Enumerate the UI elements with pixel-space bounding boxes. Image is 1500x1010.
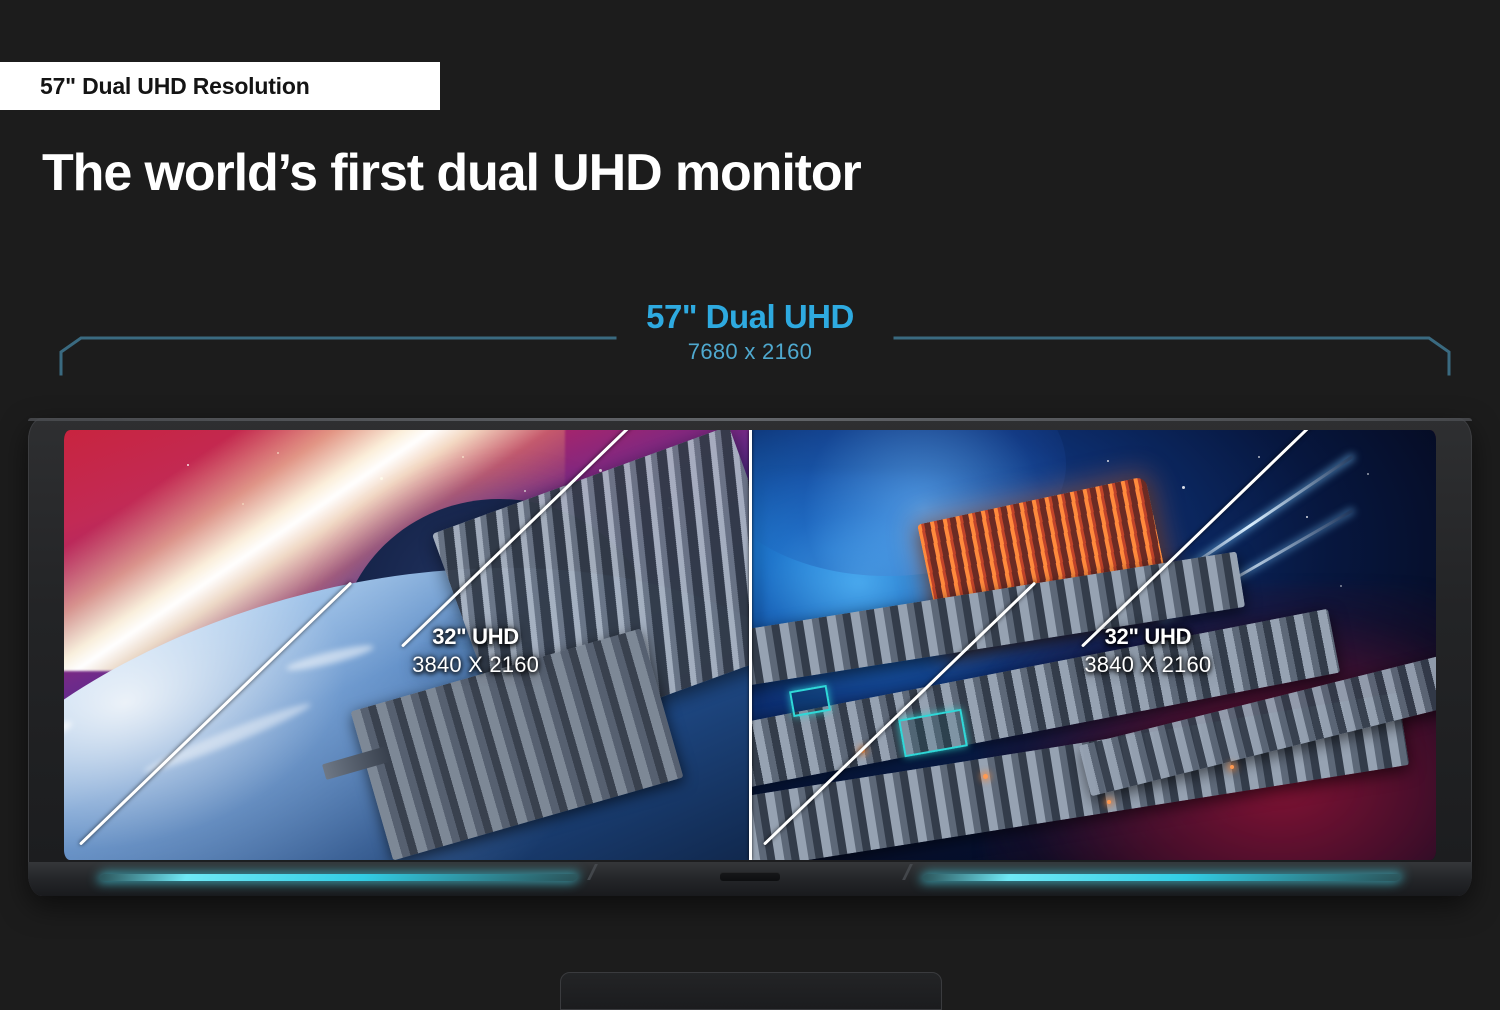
rgb-light-right <box>922 874 1402 881</box>
monitor-stand-base <box>560 972 942 1010</box>
section-badge: 57" Dual UHD Resolution <box>0 62 440 110</box>
promo-banner: 57" Dual UHD Resolution The world’s firs… <box>0 0 1500 1004</box>
brand-logo-notch <box>720 872 780 881</box>
screen-center-divider <box>749 430 752 860</box>
monitor-screen: 32" UHD 3840 X 2160 32" UHD 3840 X 2160 <box>64 430 1436 860</box>
measurement-bracket <box>55 336 1455 376</box>
callout-right-resolution: 3840 X 2160 <box>983 652 1312 678</box>
callout-left-resolution: 3840 X 2160 <box>311 652 640 678</box>
callout-left-size: 32" UHD <box>311 624 640 650</box>
callout-left: 32" UHD 3840 X 2160 <box>311 624 640 678</box>
monitor-chin <box>28 862 1472 896</box>
callout-right: 32" UHD 3840 X 2160 <box>983 624 1312 678</box>
monitor-product-image: 32" UHD 3840 X 2160 32" UHD 3840 X 2160 <box>28 418 1472 896</box>
callout-right-size: 32" UHD <box>983 624 1312 650</box>
page-title: The world’s first dual UHD monitor <box>42 143 861 203</box>
rgb-light-left <box>98 874 578 881</box>
dimension-size: 57" Dual UHD <box>0 300 1500 335</box>
section-badge-label: 57" Dual UHD Resolution <box>40 73 310 100</box>
